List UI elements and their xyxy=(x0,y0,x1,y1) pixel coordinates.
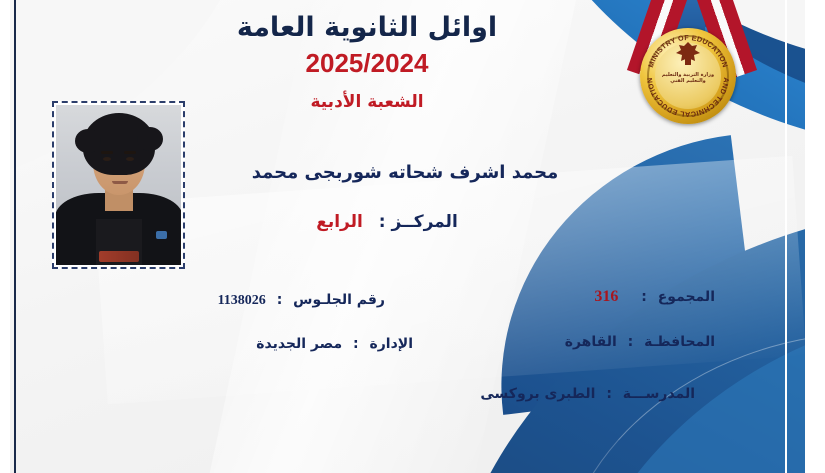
photo-mouth xyxy=(112,181,128,184)
governorate-separator: : xyxy=(628,334,634,350)
photo-eye-left xyxy=(103,157,111,161)
photo-hair xyxy=(83,113,155,175)
section-subtitle: الشعبة الأدبية xyxy=(197,92,537,112)
photo-brow-right xyxy=(124,151,136,154)
total-row: المجموع : 316 xyxy=(594,288,715,306)
seat-number-separator: : xyxy=(277,292,283,308)
school-value: الطبرى بروكسى xyxy=(480,386,595,402)
administration-row: الإدارة : مصر الجديدة xyxy=(256,336,413,352)
administration-value: مصر الجديدة xyxy=(256,336,342,352)
certificate-panel: MINISTRY OF EDUCATION AND TECHNICAL EDUC… xyxy=(10,0,805,473)
rank-separator: : xyxy=(379,212,386,232)
egypt-eagle-icon xyxy=(673,40,703,68)
photo-brow-left xyxy=(101,151,113,154)
total-separator: : xyxy=(641,289,647,305)
governorate-label: المحافظـة xyxy=(644,334,715,350)
school-row: المدرســـة : الطبرى بروكسى xyxy=(480,386,695,402)
photo-eye-right xyxy=(126,157,134,161)
rank-value: الرابع xyxy=(316,212,363,232)
total-label: المجموع xyxy=(658,289,715,305)
certificate-card: MINISTRY OF EDUCATION AND TECHNICAL EDUC… xyxy=(0,0,825,473)
administration-separator: : xyxy=(353,336,359,352)
total-value: 316 xyxy=(594,288,618,306)
page-title: اوائل الثانوية العامة xyxy=(197,12,537,43)
administration-label: الإدارة xyxy=(369,336,413,352)
ministry-medal: MINISTRY OF EDUCATION AND TECHNICAL EDUC… xyxy=(617,0,767,126)
panel-left-border xyxy=(14,0,16,473)
school-separator: : xyxy=(606,386,612,402)
medal-arabic-text: وزارة التربية والتعليم والتعليم الفني xyxy=(640,72,736,84)
student-photo-frame xyxy=(52,101,185,269)
student-name: محمد اشرف شحاته شوربجى محمد xyxy=(215,162,595,183)
governorate-value: القاهرة xyxy=(565,334,617,350)
seat-number-row: رقم الجلـوس : 1138026 xyxy=(218,292,385,309)
seat-number-label: رقم الجلـوس xyxy=(293,292,385,308)
panel-right-border xyxy=(785,0,787,473)
academic-year: 2025/2024 xyxy=(197,48,537,79)
school-label: المدرســـة xyxy=(623,386,695,402)
medal-disc: MINISTRY OF EDUCATION AND TECHNICAL EDUC… xyxy=(640,28,736,124)
photo-shirt-logo xyxy=(99,251,139,262)
seat-number-value: 1138026 xyxy=(218,293,266,309)
photo-jacket-badge xyxy=(156,231,167,239)
governorate-row: المحافظـة : القاهرة xyxy=(565,334,715,350)
rank-row: المركــز : الرابع xyxy=(237,212,537,232)
rank-label: المركــز xyxy=(392,212,458,232)
student-photo xyxy=(56,105,181,265)
decor-sheen-secondary xyxy=(94,156,805,404)
decor-swoosh-bottom-right-line xyxy=(530,335,805,473)
